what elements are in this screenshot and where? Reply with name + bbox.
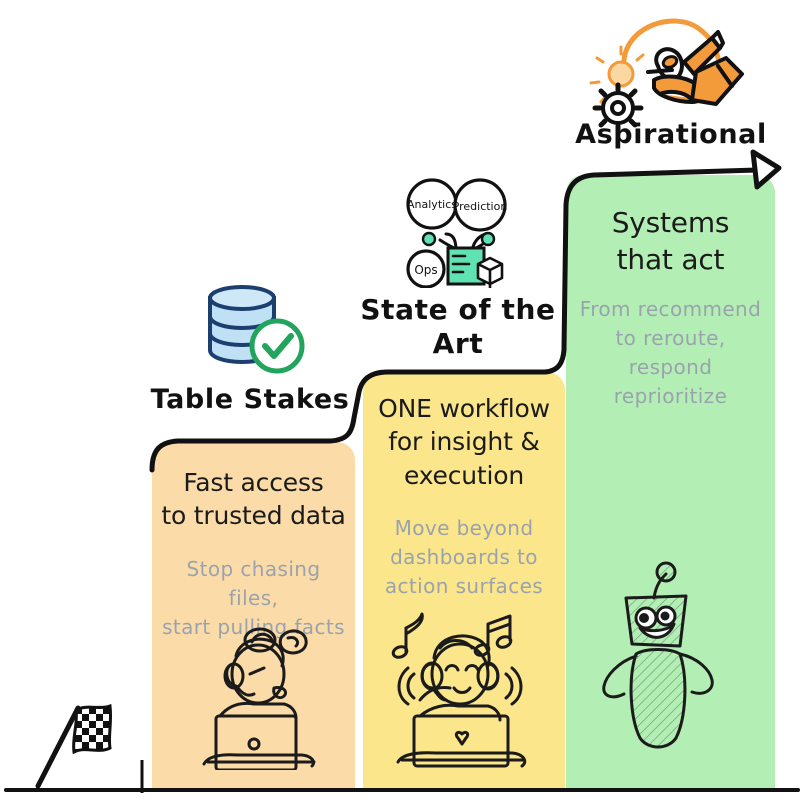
node-label: Ops — [414, 263, 437, 277]
step-subtext: Move beyond dashboards to action surface… — [371, 514, 557, 601]
database-check-icon — [198, 282, 310, 378]
step-headline: ONE workflow for insight & execution — [371, 392, 557, 492]
node-label: Analytics — [407, 198, 457, 211]
robot-arm-pencil-icon — [566, 12, 746, 130]
person-music-headphones-laptop-icon — [384, 604, 542, 770]
person-headphones-laptop-icon — [196, 612, 332, 770]
analytics-prediction-ops-icon: Analytics Prediction Ops — [398, 172, 516, 288]
checkered-flag-icon — [24, 694, 116, 790]
label-line: Art — [348, 327, 568, 361]
step-label-state-of-the-art: State of the Art — [348, 293, 568, 361]
gear-icon — [595, 85, 641, 130]
check-circle-icon — [252, 321, 302, 371]
node-label: Prediction — [453, 200, 508, 213]
sun-icon — [609, 62, 633, 86]
robot-smiling-icon — [578, 558, 746, 766]
label-line: State of the — [348, 293, 568, 327]
infographic-canvas: Fast access to trusted data Stop chasing… — [0, 0, 804, 800]
step-label-table-stakes: Table Stakes — [150, 384, 350, 417]
step-headline: Fast access to trusted data — [160, 466, 347, 533]
robotic-hand-icon — [648, 32, 742, 104]
step-headline: Systems that act — [574, 205, 767, 279]
step-subtext: From recommend to reroute, respond repri… — [574, 295, 767, 411]
